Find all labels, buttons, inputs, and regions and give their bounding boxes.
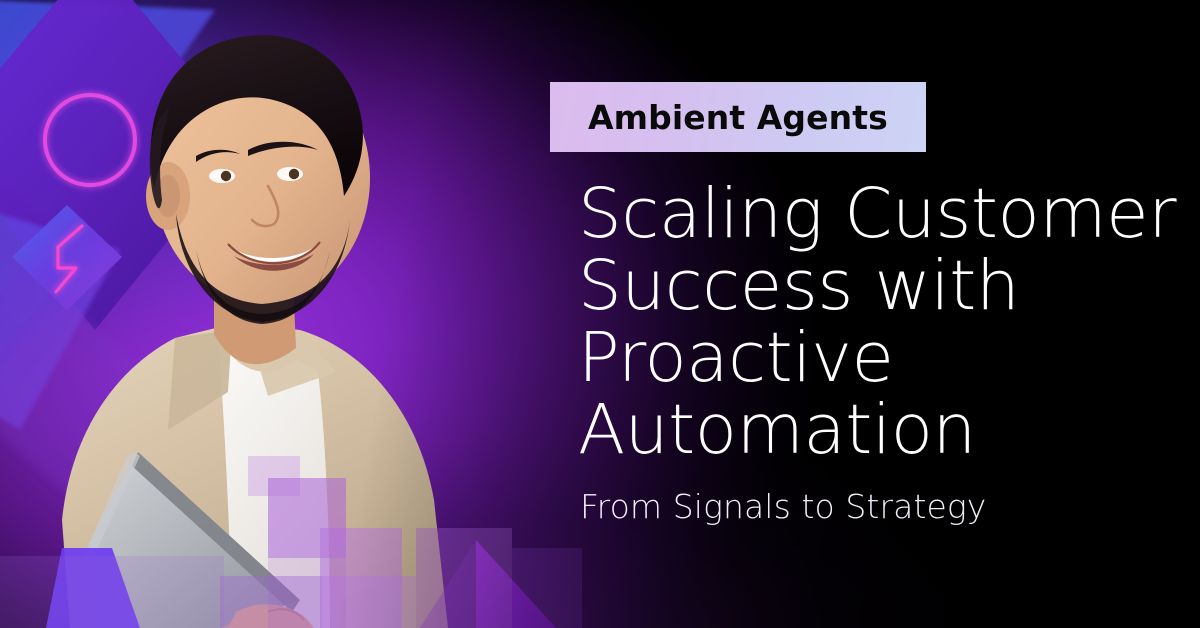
headline-line-2: Success with (578, 250, 1178, 322)
page-title: Scaling Customer Success with Proactive … (578, 178, 1178, 466)
headline-line-4: Automation (578, 394, 1178, 466)
headline-line-1: Scaling Customer (578, 178, 1178, 250)
headline-line-3: Proactive (578, 322, 1178, 394)
content-column: Ambient Agents Scaling Customer Success … (550, 0, 1200, 628)
social-share-banner: Ambient Agents Scaling Customer Success … (0, 0, 1200, 628)
category-badge[interactable]: Ambient Agents (550, 82, 926, 152)
subtitle: From Signals to Strategy (580, 487, 986, 526)
category-badge-label: Ambient Agents (588, 98, 888, 137)
